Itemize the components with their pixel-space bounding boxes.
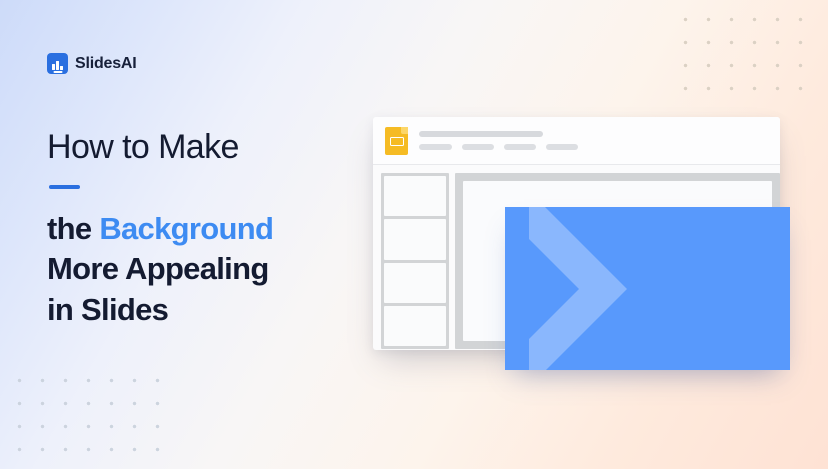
chevron-front-notch <box>505 207 579 370</box>
headline-line-4: in Slides <box>47 290 387 330</box>
dot-grid-bottom-left <box>8 369 178 461</box>
headline-divider <box>49 185 80 189</box>
menu-placeholder <box>462 144 494 150</box>
headline-line-3: More Appealing <box>47 249 387 289</box>
menu-placeholder <box>504 144 536 150</box>
toolbar-placeholder-lines <box>419 131 578 150</box>
brand-logo[interactable]: SlidesAI <box>47 53 137 74</box>
slide-thumbnail[interactable] <box>384 176 446 216</box>
slide-thumbnail[interactable] <box>384 306 446 346</box>
dot-grid-top-right <box>674 8 810 100</box>
brand-name: SlidesAI <box>75 55 137 73</box>
menu-placeholder <box>546 144 578 150</box>
menu-placeholder <box>419 144 452 150</box>
chevron-front-layer <box>505 207 790 370</box>
toolbar-menu-placeholders <box>419 144 578 150</box>
headline-accent-word: Background <box>99 211 273 246</box>
headline-block: How to Make the Background More Appealin… <box>47 128 387 330</box>
google-slides-icon <box>385 127 408 155</box>
slide-thumbnail-rail[interactable] <box>381 173 449 349</box>
slidesai-mark-icon <box>47 53 68 74</box>
toolbar-title-placeholder <box>419 131 543 137</box>
slide-thumbnail[interactable] <box>384 263 446 303</box>
headline-line-2: the Background <box>47 209 387 249</box>
slide-thumbnail[interactable] <box>384 219 446 259</box>
headline-line-1: How to Make <box>47 128 387 166</box>
mockup-toolbar <box>373 117 780 165</box>
blue-chevron-card <box>505 207 790 370</box>
headline-line-2-prefix: the <box>47 211 99 246</box>
hero-banner: SlidesAI How to Make the Background More… <box>0 0 828 469</box>
